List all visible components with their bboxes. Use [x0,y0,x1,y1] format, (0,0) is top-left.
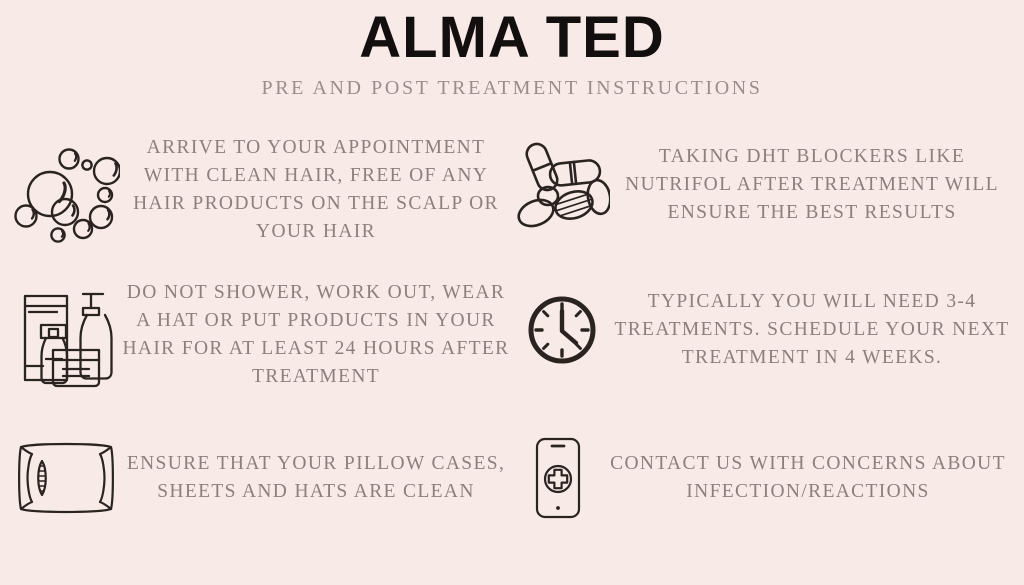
pillow-icon [10,435,122,521]
instruction-text: ARRIVE TO YOUR APPOINTMENT WITH CLEAN HA… [122,134,510,246]
instruction-text: ENSURE THAT YOUR PILLOW CASES, SHEETS AN… [122,450,510,506]
instruction-row: CONTACT US WITH CONCERNS ABOUT INFECTION… [512,425,1012,530]
pills-icon [512,137,612,233]
instruction-row: ENSURE THAT YOUR PILLOW CASES, SHEETS AN… [10,425,510,530]
instruction-text: CONTACT US WITH CONCERNS ABOUT INFECTION… [604,450,1012,506]
instruction-row: TAKING DHT BLOCKERS LIKE NUTRIFOL AFTER … [512,130,1012,240]
instruction-poster: ALMA TED PRE AND POST TREATMENT INSTRUCT… [0,0,1024,585]
header: ALMA TED PRE AND POST TREATMENT INSTRUCT… [0,6,1024,100]
page-title: ALMA TED [0,6,1024,70]
bubbles-icon [10,137,122,243]
page-subtitle: PRE AND POST TREATMENT INSTRUCTIONS [0,76,1024,100]
instruction-row: ARRIVE TO YOUR APPOINTMENT WITH CLEAN HA… [10,130,510,250]
phone-medical-icon [512,435,604,521]
instruction-text: TYPICALLY YOU WILL NEED 3-4 TREATMENTS. … [612,288,1012,372]
instruction-row: TYPICALLY YOU WILL NEED 3-4 TREATMENTS. … [512,280,1012,380]
instruction-text: TAKING DHT BLOCKERS LIKE NUTRIFOL AFTER … [612,143,1012,227]
instruction-text: DO NOT SHOWER, WORK OUT, WEAR A HAT OR P… [122,279,510,391]
instruction-row: DO NOT SHOWER, WORK OUT, WEAR A HAT OR P… [10,275,510,395]
hair-products-icon [10,282,122,388]
clock-icon [512,291,612,369]
